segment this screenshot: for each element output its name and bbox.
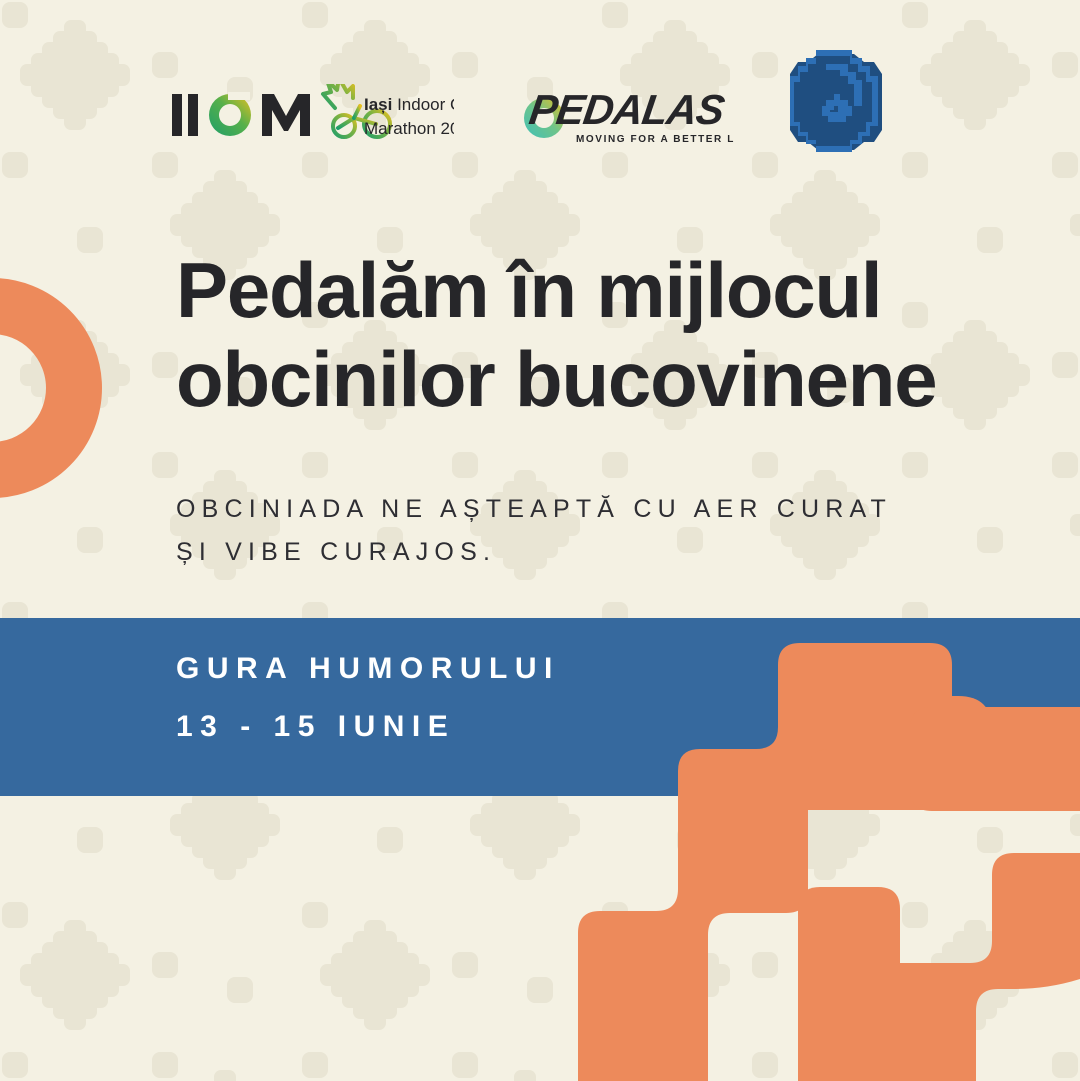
svg-text:Iași Indoor Cycling: Iași Indoor Cycling xyxy=(364,95,454,114)
event-info-band: GURA HUMORULUI 13 - 15 IUNIE xyxy=(0,618,1080,796)
svg-text:MOVING FOR A BETTER LIFE: MOVING FOR A BETTER LIFE xyxy=(576,134,734,145)
orange-ring-decoration xyxy=(0,278,102,498)
headline-line-1: Pedalăm în mijlocul xyxy=(176,246,1006,335)
svg-text:Marathon 2025: Marathon 2025 xyxy=(364,119,454,138)
event-dates: 13 - 15 IUNIE xyxy=(176,712,560,742)
subhead-line-2: ȘI VIBE CURAJOS. xyxy=(176,531,1006,574)
sponsor-logo-row: Iași Indoor Cycling Marathon 2025 PEDALA… xyxy=(0,0,1080,200)
poster-canvas: GURA HUMORULUI 13 - 15 IUNIE xyxy=(0,0,1080,1081)
headline-line-2: obcinilor bucovinene xyxy=(176,335,1006,424)
obciniada-egg-icon xyxy=(782,44,890,164)
event-location: GURA HUMORULUI xyxy=(176,654,560,684)
band-text-group: GURA HUMORULUI 13 - 15 IUNIE xyxy=(176,654,560,742)
iiom-logo: Iași Indoor Cycling Marathon 2025 xyxy=(172,84,454,146)
headline-block: Pedalăm în mijlocul obcinilor bucovinene… xyxy=(176,246,1006,574)
svg-text:PEDALAS: PEDALAS xyxy=(527,86,728,133)
pedalas-logo: PEDALAS MOVING FOR A BETTER LIFE xyxy=(516,80,734,148)
subhead-line-1: OBCINIADA NE AȘTEAPTĂ CU AER CURAT xyxy=(176,488,1006,531)
